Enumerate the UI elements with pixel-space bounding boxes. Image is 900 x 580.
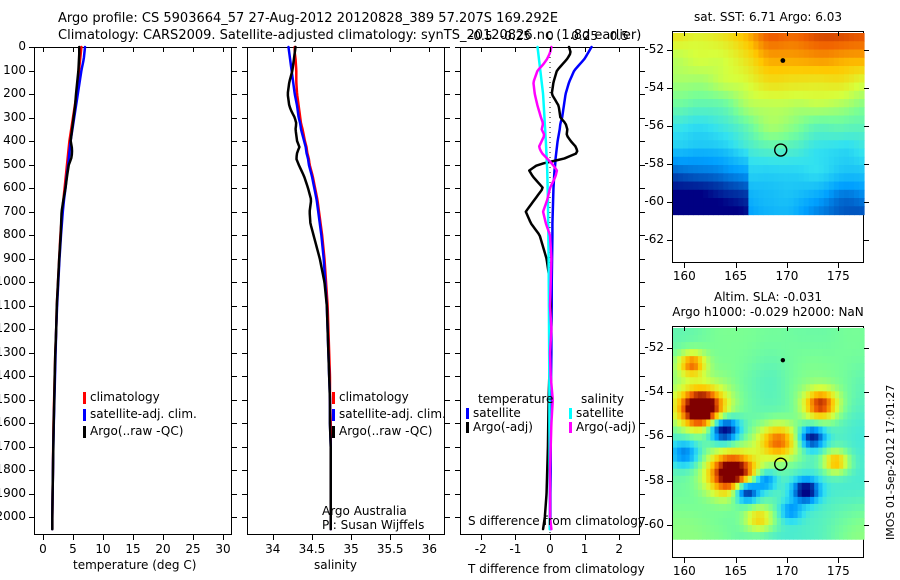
axis-tick-label: 160 <box>673 269 696 283</box>
axis-tick <box>640 376 645 377</box>
axis-tick <box>787 558 788 563</box>
salinity-profile-curves <box>247 47 445 535</box>
axis-tick-label: 35 <box>343 542 358 556</box>
axis-tick <box>864 525 869 526</box>
axis-tick <box>455 423 460 424</box>
legend-swatch <box>332 392 335 404</box>
axis-tick <box>445 188 450 189</box>
axis-tick <box>838 558 839 563</box>
argo-australia-label: Argo Australia <box>322 504 407 518</box>
axis-tick <box>29 259 34 260</box>
axis-tick <box>242 71 247 72</box>
axis-tick <box>787 263 788 268</box>
axis-tick <box>640 259 645 260</box>
axis-tick-label: 1900 <box>0 486 26 500</box>
axis-tick-label: -52 <box>644 42 664 56</box>
axis-tick <box>445 141 450 142</box>
legend-group-header-temperature: temperature <box>478 392 553 406</box>
axis-tick-label: 160 <box>673 564 696 578</box>
axis-tick <box>585 47 586 52</box>
axis-tick <box>667 436 672 437</box>
axis-tick <box>232 212 237 213</box>
axis-tick <box>232 353 237 354</box>
axis-tick-label: 165 <box>724 564 747 578</box>
axis-tick <box>640 447 645 448</box>
axis-tick <box>232 71 237 72</box>
axis-tick-label: 0 <box>546 542 554 556</box>
axis-tick-label: 1100 <box>0 298 26 312</box>
axis-tick <box>429 47 430 52</box>
axis-tick <box>29 447 34 448</box>
axis-tick <box>232 282 237 283</box>
axis-tick-label: -0.25 <box>500 29 531 43</box>
axis-tick <box>133 47 134 52</box>
axis-tick <box>455 118 460 119</box>
axis-tick-label: 25 <box>185 542 200 556</box>
axis-tick <box>29 306 34 307</box>
figure-title-line2: Climatology: CARS2009. Satellite-adjuste… <box>58 27 641 44</box>
axis-tick <box>29 376 34 377</box>
axis-tick <box>242 141 247 142</box>
legend-swatch <box>83 426 86 438</box>
axis-tick-label: -60 <box>644 517 664 531</box>
axis-tick-label: -54 <box>644 384 664 398</box>
legend-swatch <box>83 392 86 404</box>
axis-tick <box>242 400 247 401</box>
axis-tick <box>429 535 430 540</box>
imos-timestamp-label: IMOS 01-Sep-2012 17:01:27 <box>884 385 897 540</box>
axis-tick <box>29 47 34 48</box>
axis-tick <box>445 212 450 213</box>
axis-tick <box>43 47 44 52</box>
axis-tick <box>242 470 247 471</box>
axis-tick <box>223 47 224 52</box>
legend-label: Argo(-adj) <box>576 420 636 434</box>
axis-tick <box>445 165 450 166</box>
legend-swatch <box>332 426 335 438</box>
axis-tick <box>193 47 194 52</box>
axis-tick <box>242 329 247 330</box>
axis-tick <box>455 47 460 48</box>
axis-tick-label: -60 <box>644 194 664 208</box>
difference-profile-curves <box>460 47 640 535</box>
axis-tick <box>640 188 645 189</box>
axis-tick <box>787 326 788 331</box>
axis-tick <box>455 282 460 283</box>
axis-tick <box>232 470 237 471</box>
axis-tick <box>242 282 247 283</box>
axis-tick <box>838 263 839 268</box>
axis-tick <box>29 235 34 236</box>
axis-tick <box>232 447 237 448</box>
legend-label: satellite-adj. clim. <box>339 407 446 421</box>
axis-tick <box>232 165 237 166</box>
axis-tick-label: 400 <box>3 133 26 147</box>
axis-tick-label: -2 <box>475 542 487 556</box>
axis-tick <box>242 165 247 166</box>
axis-tick <box>29 165 34 166</box>
axis-tick <box>481 535 482 540</box>
axis-tick <box>455 235 460 236</box>
axis-tick <box>163 535 164 540</box>
axis-tick <box>667 202 672 203</box>
axis-tick <box>390 535 391 540</box>
axis-tick <box>29 494 34 495</box>
axis-tick-label: 200 <box>3 86 26 100</box>
axis-tick <box>838 31 839 36</box>
axis-tick <box>455 141 460 142</box>
axis-tick <box>242 494 247 495</box>
axis-tick <box>29 141 34 142</box>
axis-tick-label: 34 <box>265 542 280 556</box>
axis-tick <box>864 240 869 241</box>
axis-tick <box>29 118 34 119</box>
axis-tick-label: 20 <box>155 542 170 556</box>
axis-tick <box>242 188 247 189</box>
axis-tick <box>445 306 450 307</box>
figure-title-line1: Argo profile: CS 5903664_57 27-Aug-2012 … <box>58 10 558 27</box>
axis-tick <box>242 306 247 307</box>
salinity-xaxis-label: salinity <box>314 558 357 572</box>
axis-tick <box>550 47 551 52</box>
axis-tick-label: 36 <box>422 542 437 556</box>
axis-tick <box>864 50 869 51</box>
axis-tick <box>242 94 247 95</box>
axis-tick <box>43 535 44 540</box>
axis-tick <box>619 47 620 52</box>
axis-tick <box>640 400 645 401</box>
axis-tick <box>73 535 74 540</box>
axis-tick <box>864 392 869 393</box>
axis-tick <box>455 400 460 401</box>
axis-tick <box>232 329 237 330</box>
axis-tick-label: 0.25 <box>571 29 598 43</box>
axis-tick <box>455 165 460 166</box>
legend-label: climatology <box>90 390 160 404</box>
legend-label: Argo(-adj) <box>473 420 533 434</box>
axis-tick <box>232 423 237 424</box>
axis-tick <box>455 517 460 518</box>
axis-tick <box>550 535 551 540</box>
axis-tick-label: 165 <box>724 269 747 283</box>
legend-swatch <box>569 422 572 433</box>
axis-tick-label: 0.5 <box>610 29 629 43</box>
axis-tick-label: 800 <box>3 227 26 241</box>
axis-tick <box>667 348 672 349</box>
legend-label: climatology <box>339 390 409 404</box>
legend-label: satellite-adj. clim. <box>90 407 197 421</box>
axis-tick <box>29 517 34 518</box>
axis-tick-label: -52 <box>644 340 664 354</box>
axis-tick <box>232 94 237 95</box>
axis-tick <box>29 188 34 189</box>
axis-tick <box>640 306 645 307</box>
axis-tick <box>232 494 237 495</box>
sla-map-field <box>673 327 863 517</box>
axis-tick <box>736 263 737 268</box>
axis-tick <box>232 400 237 401</box>
axis-tick-label: 100 <box>3 63 26 77</box>
axis-tick <box>351 47 352 52</box>
legend-label: satellite <box>473 406 521 420</box>
axis-tick <box>242 423 247 424</box>
axis-tick <box>445 470 450 471</box>
axis-tick-label: 0 <box>546 29 554 43</box>
axis-tick <box>684 326 685 331</box>
axis-tick-label: 1000 <box>0 274 26 288</box>
axis-tick <box>445 259 450 260</box>
axis-tick <box>103 535 104 540</box>
axis-tick <box>640 71 645 72</box>
axis-tick-label: 10 <box>95 542 110 556</box>
legend-swatch <box>569 408 572 419</box>
axis-tick <box>619 535 620 540</box>
axis-tick-label: 1200 <box>0 321 26 335</box>
axis-tick <box>29 423 34 424</box>
axis-tick <box>445 423 450 424</box>
axis-tick <box>585 535 586 540</box>
axis-tick <box>232 306 237 307</box>
axis-tick <box>838 326 839 331</box>
axis-tick <box>515 47 516 52</box>
axis-tick <box>445 494 450 495</box>
axis-tick <box>29 212 34 213</box>
axis-tick-label: 170 <box>776 564 799 578</box>
legend-label: Argo(..raw -QC) <box>90 424 183 438</box>
axis-tick <box>736 326 737 331</box>
axis-tick <box>445 447 450 448</box>
axis-tick <box>242 447 247 448</box>
legend-label: satellite <box>576 406 624 420</box>
axis-tick <box>29 71 34 72</box>
legend-swatch <box>466 422 469 433</box>
axis-tick <box>29 282 34 283</box>
axis-tick <box>163 47 164 52</box>
legend-swatch <box>83 409 86 421</box>
axis-tick <box>242 235 247 236</box>
axis-tick-label: 600 <box>3 180 26 194</box>
axis-tick-label: 175 <box>827 564 850 578</box>
axis-tick <box>445 517 450 518</box>
axis-tick-label: 700 <box>3 204 26 218</box>
axis-tick <box>445 400 450 401</box>
axis-tick <box>445 282 450 283</box>
axis-tick-label: 1500 <box>0 392 26 406</box>
axis-tick <box>640 94 645 95</box>
axis-tick-label: 300 <box>3 110 26 124</box>
axis-tick <box>864 164 869 165</box>
axis-tick-label: -54 <box>644 80 664 94</box>
axis-tick <box>445 71 450 72</box>
axis-tick-label: 1600 <box>0 415 26 429</box>
axis-tick <box>103 47 104 52</box>
axis-tick <box>455 188 460 189</box>
axis-tick-label: 30 <box>215 542 230 556</box>
axis-tick <box>232 188 237 189</box>
axis-tick <box>133 535 134 540</box>
axis-tick <box>390 47 391 52</box>
axis-tick <box>684 263 685 268</box>
axis-tick <box>242 259 247 260</box>
axis-tick-label: 1 <box>581 542 589 556</box>
axis-tick <box>667 481 672 482</box>
axis-tick <box>864 436 869 437</box>
axis-tick <box>667 126 672 127</box>
axis-tick-label: -0.5 <box>469 29 492 43</box>
axis-tick <box>455 306 460 307</box>
axis-tick-label: 15 <box>125 542 140 556</box>
legend-group-header-salinity: salinity <box>581 392 624 406</box>
axis-tick-label: -1 <box>509 542 521 556</box>
axis-tick <box>242 353 247 354</box>
temperature-profile-curves <box>34 47 232 535</box>
axis-tick-label: -58 <box>644 473 664 487</box>
axis-tick <box>73 47 74 52</box>
axis-tick <box>445 353 450 354</box>
axis-tick <box>29 400 34 401</box>
axis-tick <box>232 235 237 236</box>
axis-tick <box>242 212 247 213</box>
axis-tick <box>667 240 672 241</box>
axis-tick <box>455 447 460 448</box>
axis-tick <box>351 535 352 540</box>
axis-tick <box>29 94 34 95</box>
axis-tick <box>29 353 34 354</box>
axis-tick <box>455 494 460 495</box>
axis-tick <box>445 376 450 377</box>
axis-tick-label: 500 <box>3 157 26 171</box>
axis-tick <box>684 31 685 36</box>
axis-tick <box>455 376 460 377</box>
axis-tick <box>242 376 247 377</box>
axis-tick-label: -62 <box>644 232 664 246</box>
axis-tick <box>667 525 672 526</box>
axis-tick <box>312 535 313 540</box>
axis-tick-label: -58 <box>644 156 664 170</box>
principal-investigator-label: PI: Susan Wijffels <box>322 518 424 532</box>
axis-tick <box>640 423 645 424</box>
axis-tick <box>193 535 194 540</box>
axis-tick <box>455 94 460 95</box>
axis-tick-label: 1400 <box>0 368 26 382</box>
axis-tick <box>455 470 460 471</box>
axis-tick <box>864 126 869 127</box>
axis-tick <box>445 118 450 119</box>
axis-tick <box>455 353 460 354</box>
axis-tick <box>864 88 869 89</box>
axis-tick-label: 35.5 <box>377 542 404 556</box>
axis-tick <box>684 558 685 563</box>
axis-tick <box>232 141 237 142</box>
axis-tick-label: 0 <box>18 39 26 53</box>
axis-tick-label: 5 <box>69 542 77 556</box>
temperature-xaxis-label: temperature (deg C) <box>73 558 196 572</box>
axis-tick <box>667 164 672 165</box>
legend-swatch <box>332 409 335 421</box>
difference-s-axis-label: S difference from climatology <box>468 514 645 528</box>
axis-tick <box>640 141 645 142</box>
axis-tick-label: 175 <box>827 269 850 283</box>
axis-tick-label: 900 <box>3 251 26 265</box>
axis-tick-label: 1800 <box>0 462 26 476</box>
sla-map-title-line2: Argo h1000: -0.029 h2000: NaN <box>650 305 886 319</box>
axis-tick <box>445 94 450 95</box>
axis-tick <box>445 47 450 48</box>
axis-tick-label: -56 <box>644 118 664 132</box>
axis-tick <box>640 329 645 330</box>
axis-tick <box>232 259 237 260</box>
axis-tick <box>445 235 450 236</box>
axis-tick-label: 2 <box>615 542 623 556</box>
axis-tick <box>242 118 247 119</box>
axis-tick <box>223 535 224 540</box>
sst-map-field <box>673 32 863 262</box>
axis-tick-label: 34.5 <box>299 542 326 556</box>
axis-tick-label: 2000 <box>0 509 26 523</box>
axis-tick <box>640 282 645 283</box>
axis-tick-label: 0 <box>39 542 47 556</box>
axis-tick-label: -56 <box>644 428 664 442</box>
axis-tick <box>29 470 34 471</box>
axis-tick <box>736 31 737 36</box>
legend-swatch <box>466 408 469 419</box>
axis-tick-label: 1300 <box>0 345 26 359</box>
difference-t-axis-label: T difference from climatology <box>468 562 645 576</box>
axis-tick <box>242 517 247 518</box>
axis-tick <box>864 202 869 203</box>
axis-tick <box>455 329 460 330</box>
axis-tick-label: 1700 <box>0 439 26 453</box>
axis-tick <box>273 535 274 540</box>
axis-tick <box>242 47 247 48</box>
axis-tick <box>481 47 482 52</box>
axis-tick <box>667 392 672 393</box>
axis-tick <box>515 535 516 540</box>
axis-tick <box>232 118 237 119</box>
axis-tick <box>667 50 672 51</box>
sst-map-title: sat. SST: 6.71 Argo: 6.03 <box>668 10 868 24</box>
axis-tick <box>455 71 460 72</box>
axis-tick <box>667 88 672 89</box>
axis-tick <box>640 494 645 495</box>
axis-tick-label: 170 <box>776 269 799 283</box>
axis-tick <box>787 31 788 36</box>
axis-tick <box>455 212 460 213</box>
axis-tick <box>864 481 869 482</box>
sla-map-title-line1: Altim. SLA: -0.031 <box>668 290 868 304</box>
axis-tick <box>29 329 34 330</box>
axis-tick <box>312 47 313 52</box>
axis-tick <box>273 47 274 52</box>
axis-tick <box>736 558 737 563</box>
axis-tick <box>455 259 460 260</box>
axis-tick <box>232 376 237 377</box>
axis-tick <box>232 47 237 48</box>
axis-tick <box>640 470 645 471</box>
axis-tick <box>864 348 869 349</box>
legend-label: Argo(..raw -QC) <box>339 424 432 438</box>
axis-tick <box>445 329 450 330</box>
axis-tick <box>640 212 645 213</box>
axis-tick <box>232 517 237 518</box>
